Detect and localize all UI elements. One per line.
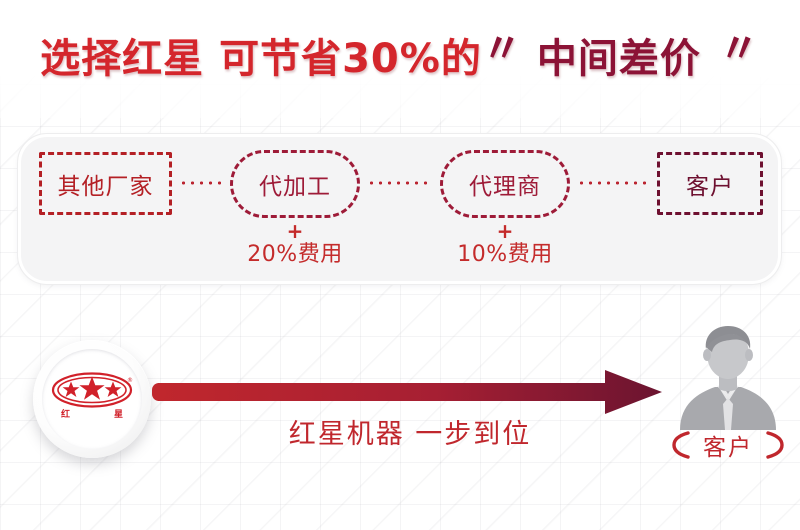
- headline-text-highlight: 中间差价: [537, 39, 701, 79]
- bracket-left-icon: [671, 430, 691, 460]
- fee-plus-sign: +: [415, 221, 595, 242]
- three-stars-oval-icon: [50, 371, 134, 411]
- flow-connector-1: [179, 181, 225, 185]
- headline-quote-close: 〃: [719, 29, 760, 69]
- fee-markup-subcontractor: + 20%费用: [205, 221, 385, 266]
- direct-supply-arrow: [150, 368, 670, 416]
- logo-brand-char-right: 星: [114, 407, 123, 420]
- flow-connector-3: [577, 181, 651, 185]
- flow-diagram: 其他厂家 代加工 代理商 客户 + 20%费用 + 10%费用: [17, 133, 782, 285]
- registered-mark-icon: ®: [127, 377, 133, 384]
- flow-node-label: 其他厂家: [58, 167, 154, 201]
- fee-plus-sign: +: [205, 221, 385, 242]
- flow-node-agent: 代理商: [440, 150, 570, 218]
- logo-brand-text: 红 星: [50, 407, 134, 420]
- bracket-right-icon: [765, 430, 785, 460]
- logo-disc-inner: ® 红 星: [42, 349, 142, 449]
- flow-node-other-factory: 其他厂家: [39, 152, 172, 215]
- flow-node-label: 代理商: [469, 167, 541, 201]
- fee-amount: 10%费用: [415, 243, 595, 266]
- brand-logo: ® 红 星: [33, 340, 151, 458]
- customer-label-group: 客户: [648, 428, 800, 462]
- arrow-right-icon: [150, 368, 670, 416]
- flow-node-label: 代加工: [259, 167, 331, 201]
- arrow-caption: 红星机器 一步到位: [150, 412, 670, 451]
- logo-mark: ® 红 星: [50, 371, 134, 427]
- flow-node-label: 客户: [686, 167, 734, 201]
- logo-brand-char-left: 红: [61, 407, 70, 420]
- headline-text-primary: 选择红星 可节省30%的: [40, 39, 482, 79]
- headline-quote-open: 〃: [482, 29, 523, 69]
- businessman-silhouette-icon: [668, 318, 788, 430]
- flow-connector-2: [367, 181, 433, 185]
- fee-markup-agent: + 10%费用: [415, 221, 595, 266]
- headline-banner: 选择红星 可节省30%的 〃 中间差价 〃: [0, 28, 800, 90]
- flow-node-subcontractor: 代加工: [230, 150, 360, 218]
- flow-node-customer: 客户: [657, 152, 763, 215]
- customer-label-text: 客户: [703, 428, 753, 462]
- fee-amount: 20%费用: [205, 243, 385, 266]
- customer-avatar: [668, 318, 788, 430]
